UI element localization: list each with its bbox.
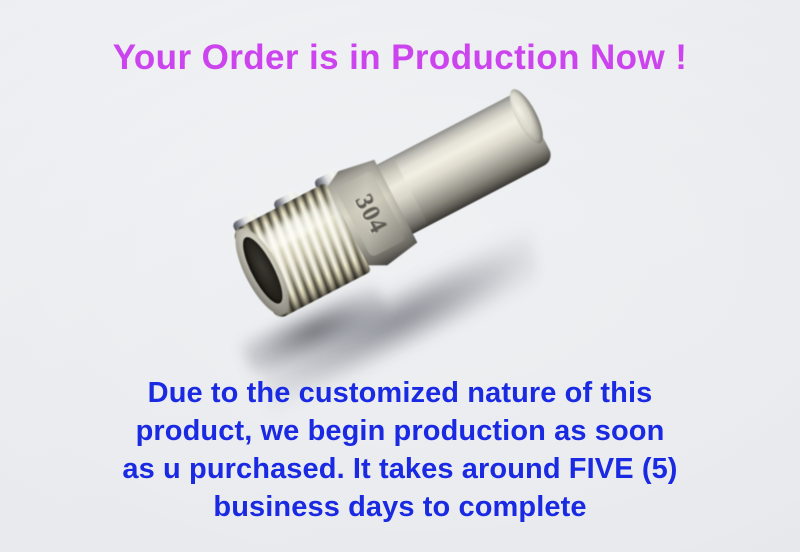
notice-text: Due to the customized nature of this pro… [0,374,800,526]
material-stamp-text: 304 [348,190,392,239]
notice-line-4: business days to complete [0,488,800,526]
page-title: Your Order is in Production Now ! [0,38,800,78]
notice-line-3: as u purchased. It takes around FIVE (5) [0,450,800,488]
notice-line-1: Due to the customized nature of this [0,374,800,412]
promo-banner: Your Order is in Production Now ! 304 Du… [0,0,800,552]
notice-line-2: product, we begin production as soon [0,412,800,450]
product-photo: 304 [232,142,580,370]
